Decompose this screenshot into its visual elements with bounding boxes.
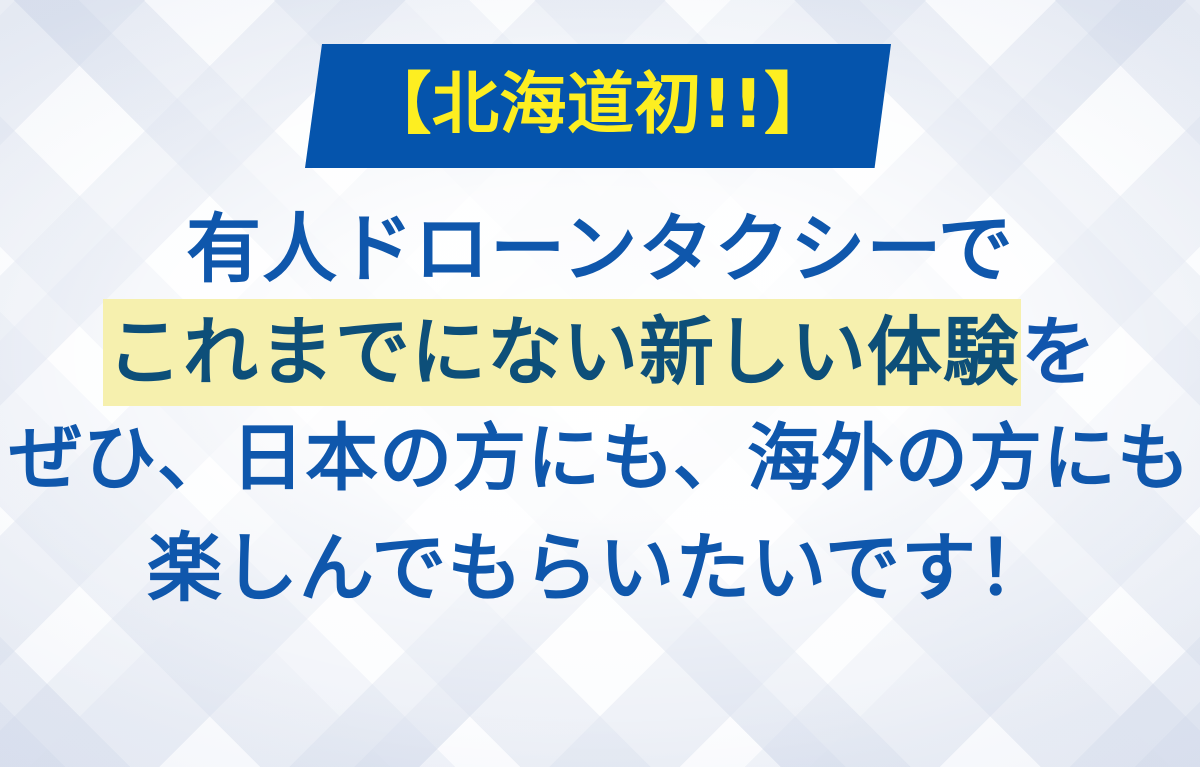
- headline-line-4: 楽しんでもらいたいです！: [0, 531, 1200, 606]
- banner-label-text: 【北海道初!!】: [364, 71, 831, 138]
- banner-label: 【北海道初!!】: [305, 44, 891, 168]
- promo-poster: 【北海道初!!】 有人ドローンタクシーで これまでにない新しい体験を ぜひ、日本…: [0, 0, 1200, 767]
- headline-block: 有人ドローンタクシーで これまでにない新しい体験を ぜひ、日本の方にも、海外の方…: [0, 196, 1200, 606]
- headline-line-2: これまでにない新しい体験を: [0, 315, 1200, 390]
- headline-line-1: 有人ドローンタクシーで: [0, 212, 1200, 287]
- headline-highlighted-phrase: これまでにない新しい体験: [103, 299, 1021, 406]
- banner: 【北海道初!!】: [305, 44, 891, 168]
- headline-line-3: ぜひ、日本の方にも、海外の方にも: [0, 422, 1200, 495]
- headline-line-2-tail: を: [1021, 308, 1097, 396]
